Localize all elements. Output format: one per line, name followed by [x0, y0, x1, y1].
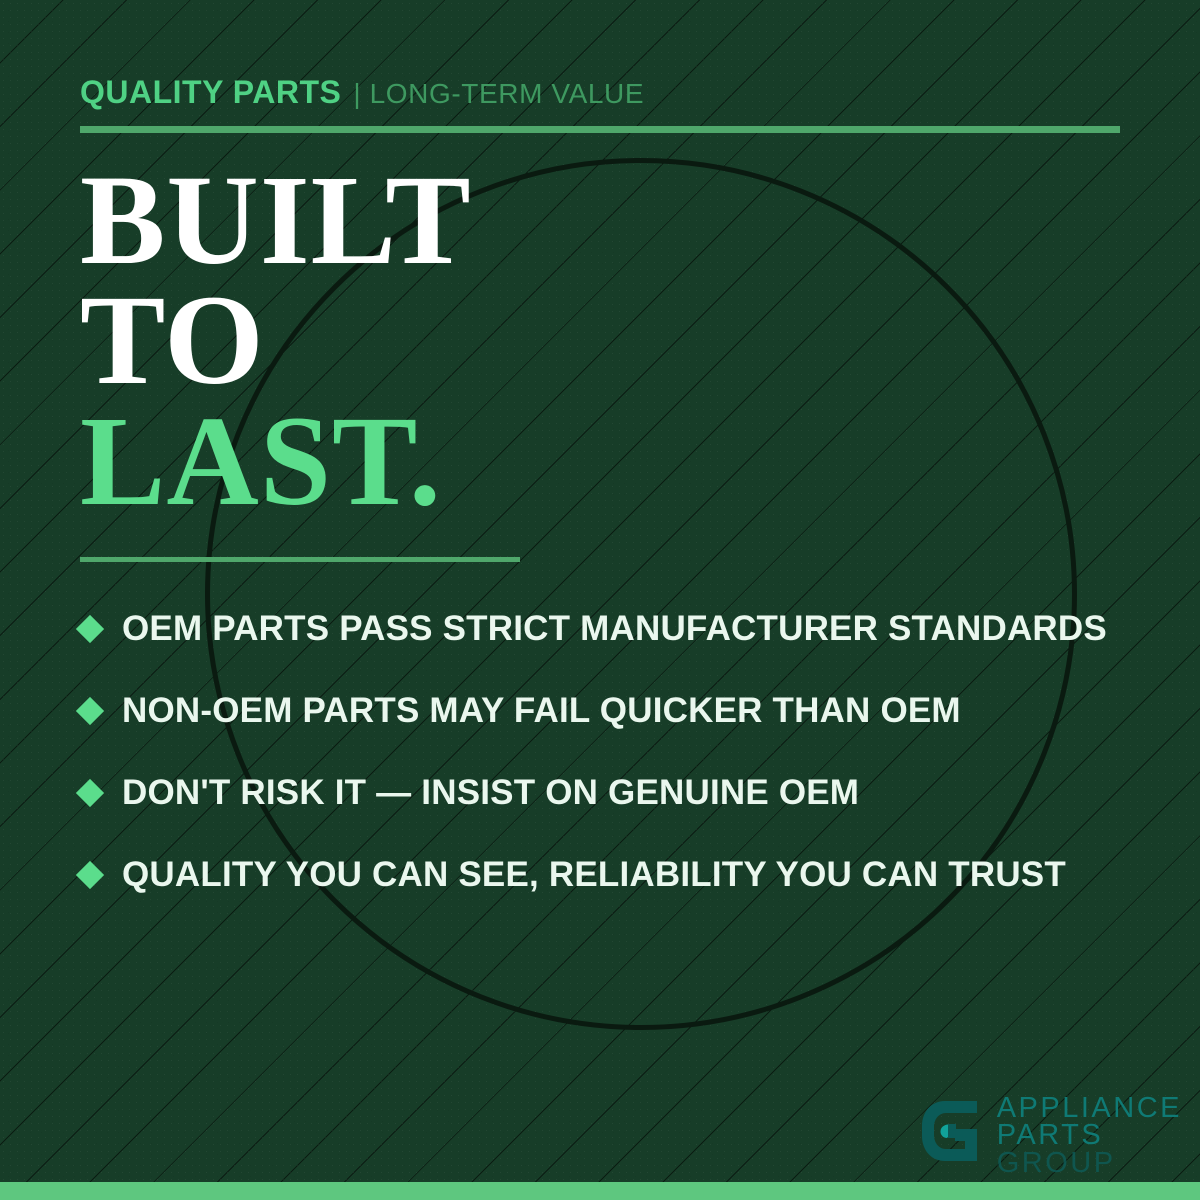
- poster-content: QUALITY PARTS | LONG-TERM VALUE BUILT TO…: [0, 0, 1200, 1200]
- list-item-label: QUALITY YOU CAN SEE, RELIABILITY YOU CAN…: [122, 855, 1066, 895]
- headline: BUILT TO LAST.: [80, 160, 472, 521]
- diamond-bullet-icon: [76, 697, 104, 725]
- g-monogram-icon: [915, 1095, 983, 1167]
- brand-word-line-2: PARTS: [997, 1122, 1182, 1150]
- diamond-bullet-icon: [76, 861, 104, 889]
- brand-wordmark: APPLIANCE PARTS GROUP: [997, 1095, 1182, 1178]
- benefit-list: OEM PARTS PASS STRICT MANUFACTURER STAND…: [80, 588, 1150, 916]
- list-item: OEM PARTS PASS STRICT MANUFACTURER STAND…: [80, 588, 1150, 670]
- diamond-bullet-icon: [76, 615, 104, 643]
- kicker-sub-text: LONG-TERM VALUE: [370, 78, 645, 109]
- kicker-main-label: QUALITY PARTS: [80, 74, 341, 111]
- bottom-accent-bar: [0, 1182, 1200, 1200]
- diamond-bullet-icon: [76, 779, 104, 807]
- headline-line-2: TO: [80, 280, 472, 400]
- poster-canvas: QUALITY PARTS | LONG-TERM VALUE BUILT TO…: [0, 0, 1200, 1200]
- list-item-label: DON'T RISK IT — INSIST ON GENUINE OEM: [122, 773, 859, 813]
- kicker-separator: |: [353, 78, 361, 109]
- list-item: QUALITY YOU CAN SEE, RELIABILITY YOU CAN…: [80, 834, 1150, 916]
- list-item: NON-OEM PARTS MAY FAIL QUICKER THAN OEM: [80, 670, 1150, 752]
- headline-line-1: BUILT: [80, 160, 472, 280]
- list-item-label: NON-OEM PARTS MAY FAIL QUICKER THAN OEM: [122, 691, 961, 731]
- kicker: QUALITY PARTS | LONG-TERM VALUE: [80, 74, 644, 111]
- kicker-sub-label: | LONG-TERM VALUE: [353, 78, 644, 110]
- headline-divider-rule: [80, 557, 520, 562]
- brand-word-line-3: GROUP: [997, 1150, 1182, 1178]
- brand-logo: APPLIANCE PARTS GROUP: [915, 1095, 1182, 1178]
- top-divider-rule: [80, 126, 1120, 133]
- list-item: DON'T RISK IT — INSIST ON GENUINE OEM: [80, 752, 1150, 834]
- list-item-label: OEM PARTS PASS STRICT MANUFACTURER STAND…: [122, 609, 1107, 649]
- brand-word-line-1: APPLIANCE: [997, 1095, 1182, 1123]
- headline-line-3: LAST.: [80, 401, 472, 521]
